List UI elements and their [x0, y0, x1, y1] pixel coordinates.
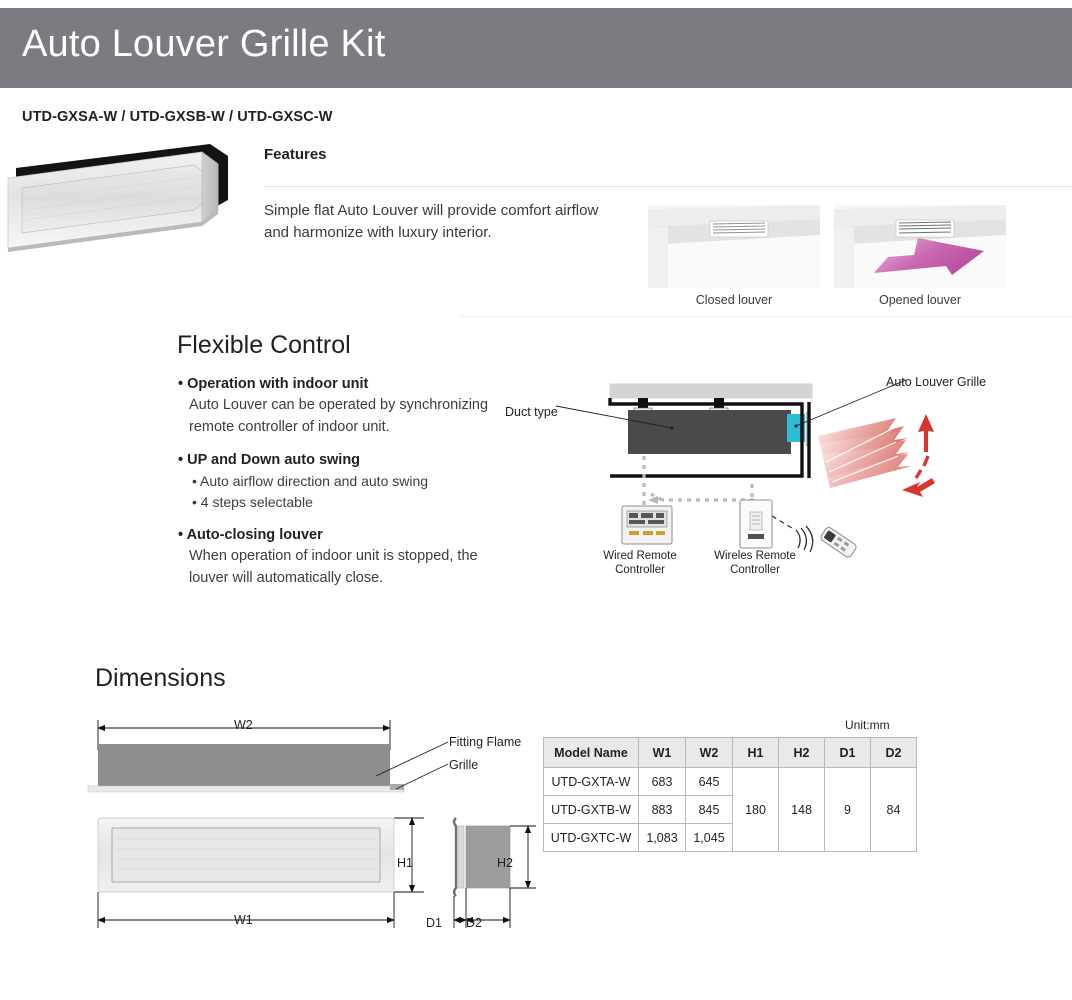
th-w2: W2 [686, 738, 733, 768]
table-header-row: Model Name W1 W2 H1 H2 D1 D2 [544, 738, 917, 768]
cell-model-1: UTD-GXTA-W [544, 768, 639, 796]
signal-lines [644, 456, 754, 506]
th-h1: H1 [733, 738, 779, 768]
dimension-label-d1: D1 [426, 916, 442, 930]
cell-h2-merged: 148 [779, 768, 825, 852]
airflow-arrows [818, 418, 912, 488]
cell-model-3: UTD-GXTC-W [544, 824, 639, 852]
th-w1: W1 [639, 738, 686, 768]
unit-note: Unit:mm [845, 718, 890, 732]
caption-closed-louver: Closed louver [648, 293, 820, 307]
dimension-label-d2: D2 [466, 916, 482, 930]
features-divider [264, 186, 1072, 187]
fc-body-1: Auto Louver can be operated by synchroni… [178, 395, 508, 438]
caption-wired-line1: Wired Remote [580, 549, 700, 563]
cell-d2-merged: 84 [871, 768, 917, 852]
features-description: Simple flat Auto Louver will provide com… [264, 200, 624, 244]
features-title: Features [264, 146, 327, 163]
th-h2: H2 [779, 738, 825, 768]
dimension-label-w1: W1 [234, 913, 253, 927]
page-title: Auto Louver Grille Kit [22, 20, 385, 68]
callout-fitting-flame: Fitting Flame [449, 735, 521, 749]
product-spec-page: Auto Louver Grille Kit UTD-GXSA-W / UTD-… [0, 0, 1072, 1000]
photos-divider [460, 316, 1072, 317]
flexible-control-title: Flexible Control [177, 331, 351, 360]
photo-opened-louver [834, 205, 1006, 288]
fc-body-3: When operation of indoor unit is stopped… [178, 546, 508, 589]
dimension-label-h2: H2 [497, 856, 513, 870]
cell-w2-2: 845 [686, 796, 733, 824]
model-codes: UTD-GXSA-W / UTD-GXSB-W / UTD-GXSC-W [22, 109, 332, 125]
th-model-name: Model Name [544, 738, 639, 768]
caption-wireless-line2: Controller [695, 563, 815, 577]
cell-w1-3: 1,083 [639, 824, 686, 852]
photo-closed-louver [648, 205, 820, 288]
label-duct-type: Duct type [505, 405, 558, 419]
fc-subitem-2-1: • Auto airflow direction and auto swing [178, 471, 508, 492]
caption-opened-louver: Opened louver [834, 293, 1006, 307]
flexible-control-item-1: • Operation with indoor unit Auto Louver… [178, 374, 508, 438]
dimensions-table: Model Name W1 W2 H1 H2 D1 D2 UTD-GXTA-W … [543, 737, 917, 852]
cell-w2-1: 645 [686, 768, 733, 796]
th-d2: D2 [871, 738, 917, 768]
fc-heading-1: • Operation with indoor unit [178, 374, 508, 395]
fc-heading-2: • UP and Down auto swing [178, 450, 508, 471]
flexible-control-item-3: • Auto-closing louver When operation of … [178, 525, 508, 589]
product-photo-grille [4, 138, 240, 270]
fc-heading-3: • Auto-closing louver [178, 525, 508, 546]
cell-h1-merged: 180 [733, 768, 779, 852]
caption-wired-line2: Controller [580, 563, 700, 577]
cell-w2-3: 1,045 [686, 824, 733, 852]
callout-grille: Grille [449, 758, 478, 772]
flexible-control-list: • Operation with indoor unit Auto Louver… [178, 374, 508, 601]
label-auto-louver-grille: Auto Louver Grille [886, 375, 986, 389]
dimensions-title: Dimensions [95, 664, 226, 693]
caption-wireless-remote-controller: Wireles Remote Controller [695, 549, 815, 577]
wireless-remote-controller [740, 500, 772, 548]
dimension-label-h1: H1 [397, 856, 413, 870]
th-d1: D1 [825, 738, 871, 768]
cell-model-2: UTD-GXTB-W [544, 796, 639, 824]
caption-wireless-line1: Wireles Remote [695, 549, 815, 563]
wired-remote-controller [622, 506, 672, 544]
swing-arrows [902, 414, 935, 497]
cell-w1-2: 883 [639, 796, 686, 824]
fc-subitem-2-2: • 4 steps selectable [178, 492, 508, 513]
caption-wired-remote-controller: Wired Remote Controller [580, 549, 700, 577]
cell-d1-merged: 9 [825, 768, 871, 852]
table-row: UTD-GXTA-W 683 645 180 148 9 84 [544, 768, 917, 796]
dimension-label-w2: W2 [234, 718, 253, 732]
flexible-control-item-2: • UP and Down auto swing • Auto airflow … [178, 450, 508, 513]
cell-w1-1: 683 [639, 768, 686, 796]
